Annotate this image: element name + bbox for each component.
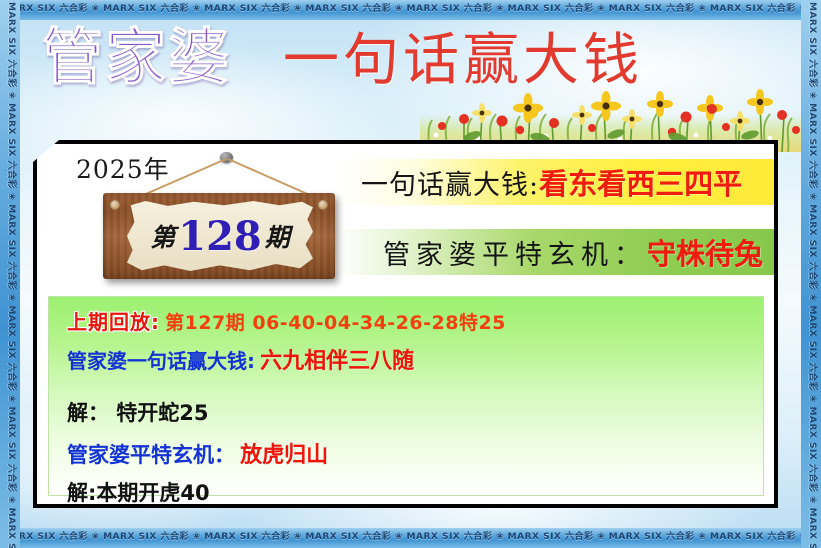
border-bottom: MARX SIX 六合彩 ❀ MARX SIX 六合彩 ❀ MARX SIX 六… [0, 528, 821, 548]
main-content-panel: 2025年 第 128 期 [33, 140, 778, 508]
slogan-title: 一句话赢大钱 [283, 33, 643, 89]
issue-suffix: 期 [265, 218, 290, 254]
band-yellow-value: 看东看西三四平 [539, 167, 742, 201]
prev-riddle-answer-line: 解:本期开虎40 [67, 477, 210, 507]
prev-riddle-value: 放虎归山 [240, 443, 328, 468]
prev-slogan-value: 六九相伴三八随 [260, 349, 414, 374]
band-yellow-label: 一句话赢大钱: [361, 170, 539, 201]
prev-riddle-label: 管家婆平特玄机： [67, 443, 235, 467]
border-left: MARX SIX 六合彩 ❀ MARX SIX 六合彩 ❀ MARX SIX 六… [0, 0, 20, 548]
issue-prefix: 第 [150, 218, 175, 254]
recap-tag: 上期回放: [67, 310, 160, 334]
results-panel: 上期回放: 第127期 06-40-04-34-26-28特25 管家婆一句话赢… [48, 296, 764, 496]
prev-riddle-answer: 解:本期开虎40 [67, 481, 210, 505]
screw-left-icon [110, 200, 120, 210]
issue-text: 第 128 期 [127, 201, 313, 271]
brand-title: 管家婆 [42, 27, 231, 88]
band-green-inner: 管家婆平特玄机：守株待兔 [337, 231, 763, 273]
recap-line: 上期回放: 第127期 06-40-04-34-26-28特25 [67, 306, 506, 335]
band-green-label: 管家婆平特玄机： [383, 240, 647, 271]
prev-slogan-answer: 解： 特开蛇25 [67, 401, 209, 425]
band-green: 管家婆平特玄机：守株待兔 [337, 229, 774, 275]
border-right: MARX SIX 六合彩 ❀ MARX SIX 六合彩 ❀ MARX SIX 六… [801, 0, 821, 548]
border-right-wrap: MARX SIX 六合彩 ❀ MARX SIX 六合彩 ❀ MARX SIX 六… [801, 0, 821, 548]
band-yellow: 一句话赢大钱:看东看西三四平 [337, 159, 774, 205]
border-bottom-text: MARX SIX 六合彩 ❀ MARX SIX 六合彩 ❀ MARX SIX 六… [0, 528, 821, 542]
border-top-text: MARX SIX 六合彩 ❀ MARX SIX 六合彩 ❀ MARX SIX 六… [0, 0, 821, 14]
panel-inner: 2025年 第 128 期 [37, 144, 774, 504]
recap-detail: 第127期 06-40-04-34-26-28特25 [165, 312, 506, 334]
screw-right-icon [318, 200, 328, 210]
band-yellow-inner: 一句话赢大钱:看东看西三四平 [337, 161, 742, 203]
prev-riddle-line: 管家婆平特玄机： 放虎归山 [67, 437, 328, 469]
prev-slogan-label: 管家婆一句话赢大钱: [67, 349, 255, 373]
prev-slogan-answer-line: 解： 特开蛇25 [67, 397, 209, 427]
wooden-sign: 第 128 期 [103, 193, 335, 279]
band-green-value: 守株待兔 [647, 237, 763, 271]
border-right-text: MARX SIX 六合彩 ❀ MARX SIX 六合彩 ❀ MARX SIX 六… [807, 0, 821, 548]
border-top: MARX SIX 六合彩 ❀ MARX SIX 六合彩 ❀ MARX SIX 六… [0, 0, 821, 20]
issue-number: 128 [175, 213, 265, 260]
border-left-text: MARX SIX 六合彩 ❀ MARX SIX 六合彩 ❀ MARX SIX 六… [6, 0, 20, 548]
prev-slogan-line: 管家婆一句话赢大钱: 六九相伴三八随 [67, 343, 414, 375]
poster-root: 管家婆 一句话赢大钱 2025年 第 128 期 [0, 0, 821, 548]
border-left-wrap: MARX SIX 六合彩 ❀ MARX SIX 六合彩 ❀ MARX SIX 六… [0, 0, 20, 548]
